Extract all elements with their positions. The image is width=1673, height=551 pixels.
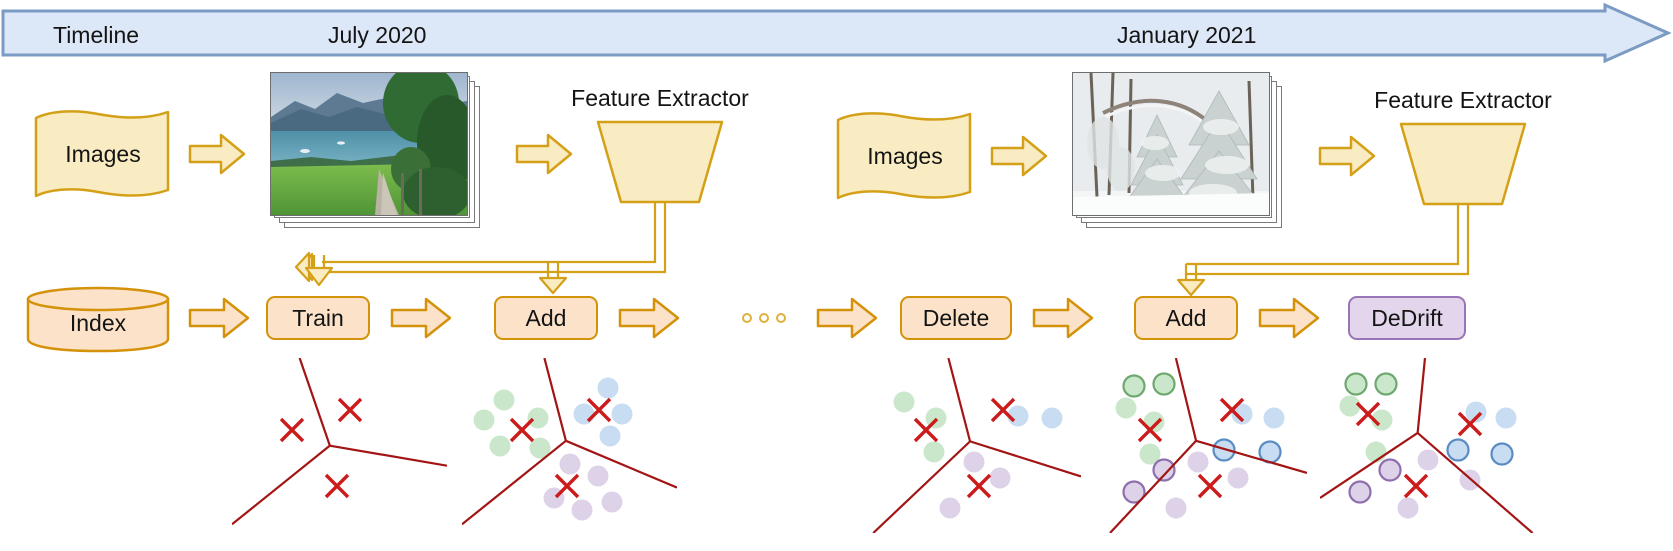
timeline-banner: Timeline July 2020 January 2021 <box>0 2 1673 64</box>
voronoi-plot-add-1 <box>462 358 677 533</box>
feature-extractor-label-january: Feature Extractor <box>1363 87 1563 114</box>
images-shape-july: Images <box>32 108 174 200</box>
feature-extractor-january <box>1398 120 1528 208</box>
timeline-mark-july: July 2020 <box>328 22 426 49</box>
voronoi-plot-delete <box>866 358 1081 533</box>
op-box-dedrift[interactable]: DeDrift <box>1348 296 1466 340</box>
index-cylinder-july-label: Index <box>24 293 172 353</box>
op-box-train[interactable]: Train <box>266 296 370 340</box>
voronoi-plot-dedrift <box>1320 358 1535 533</box>
arrow-delete-to-add <box>1032 296 1094 340</box>
arrow-add-to-dedrift <box>1258 296 1320 340</box>
connector-extractor-to-ops-january <box>1140 202 1480 302</box>
images-shape-january-label: Images <box>834 110 976 202</box>
voronoi-plot-add-2 <box>1092 358 1307 533</box>
arrow-index-to-train <box>188 296 250 340</box>
op-box-add-2[interactable]: Add <box>1134 296 1238 340</box>
connector-extractor-to-ops-july <box>300 200 720 300</box>
photo-winter-forest <box>1072 72 1270 216</box>
arrow-photos-to-extractor-january <box>1318 134 1376 178</box>
timeline-mark-january: January 2021 <box>1117 22 1256 49</box>
ellipsis-dot-icon <box>742 313 752 323</box>
images-shape-july-label: Images <box>32 108 174 200</box>
connector-arrow-to-train-july <box>300 255 360 295</box>
voronoi-plot-train <box>232 358 447 533</box>
ellipsis-dot-icon <box>759 313 769 323</box>
arrow-images-to-photos-july <box>188 132 246 176</box>
op-box-add-1[interactable]: Add <box>494 296 598 340</box>
photo-summer-landscape <box>270 72 468 216</box>
arrow-add-to-ellipsis <box>618 296 680 340</box>
arrow-ellipsis-to-delete <box>816 296 878 340</box>
arrow-images-to-photos-january <box>990 134 1048 178</box>
index-cylinder-july: Index <box>24 285 172 353</box>
images-shape-january: Images <box>834 110 976 202</box>
ellipsis-indicator <box>742 313 786 323</box>
timeline-label: Timeline <box>53 22 139 49</box>
arrow-train-to-add <box>390 296 452 340</box>
feature-extractor-label-july: Feature Extractor <box>560 85 760 112</box>
op-box-delete[interactable]: Delete <box>900 296 1012 340</box>
feature-extractor-july <box>595 118 725 206</box>
ellipsis-dot-icon <box>776 313 786 323</box>
arrow-photos-to-extractor-july <box>515 132 573 176</box>
